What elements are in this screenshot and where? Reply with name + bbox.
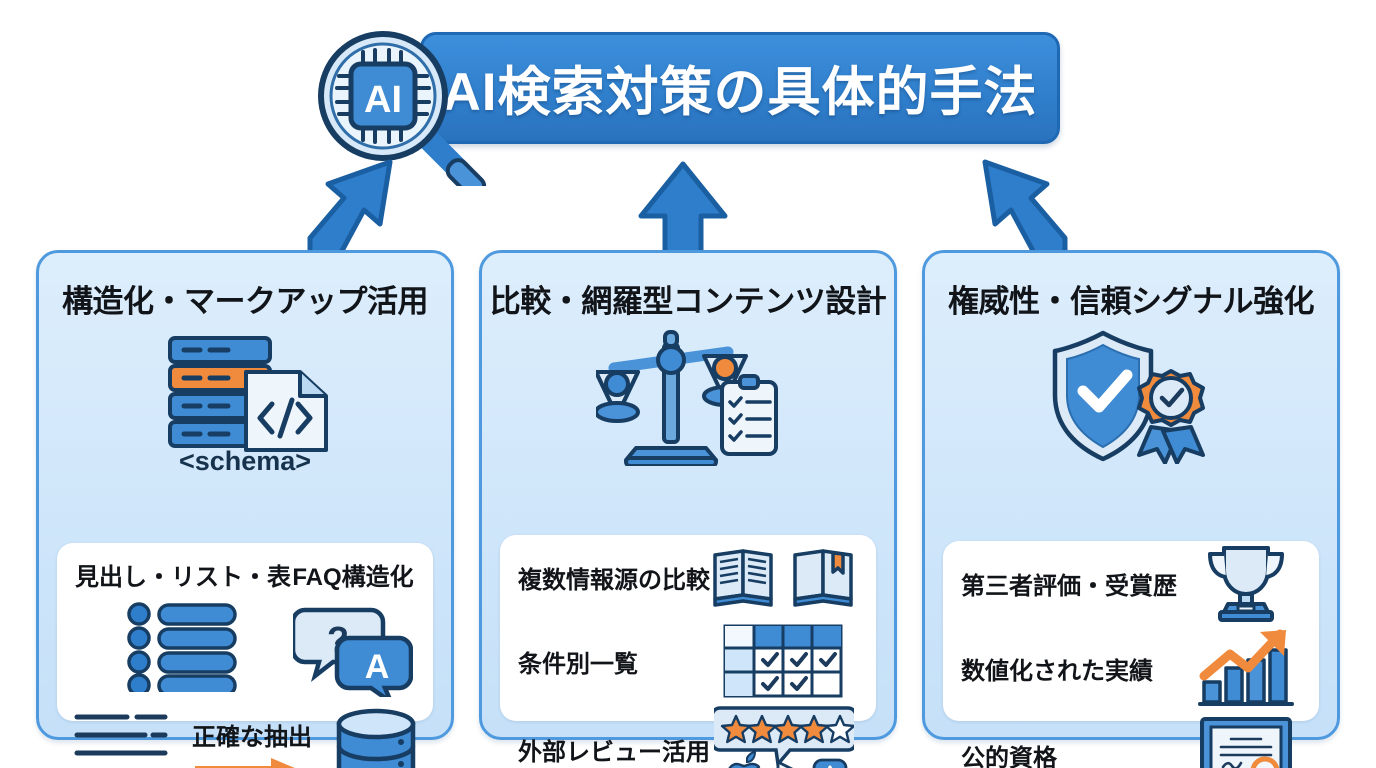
- arrow-up-icon: [637, 158, 729, 258]
- document-lines-icon: [71, 709, 171, 768]
- orange-arrow-icon: [193, 756, 311, 768]
- item-accurate-extraction: 正確な抽出: [57, 702, 433, 768]
- column-title: 比較・網羅型コンテンツ設計: [482, 276, 894, 321]
- arrow-up-left-icon: [963, 140, 1083, 265]
- comparison-table-icon: [723, 624, 843, 698]
- item-label: FAQ構造化: [291, 557, 415, 592]
- item-third-party-awards: 第三者評価・受賞歴: [943, 541, 1319, 625]
- column-title: 権威性・信頼シグナル強化: [925, 276, 1337, 321]
- trophy-icon: [1202, 544, 1290, 622]
- item-external-reviews: 外部レビュー活用: [500, 703, 876, 768]
- ai-chip-label: AI: [364, 79, 402, 121]
- item-quantified-results: 数値化された実績: [943, 625, 1319, 711]
- item-condition-table: 条件別一覧: [500, 619, 876, 703]
- item-label: 正確な抽出: [173, 717, 331, 752]
- title-banner: AI検索対策の具体的手法: [420, 32, 1060, 144]
- column-title: 構造化・マークアップ活用: [39, 276, 451, 321]
- item-faq-structure: FAQ構造化 ? A: [291, 557, 415, 702]
- item-label: 第三者評価・受賞歴: [961, 566, 1177, 601]
- bullet-list-icon: [123, 602, 243, 692]
- item-label: 複数情報源の比較: [518, 560, 710, 595]
- column-structure: 構造化・マークアップ活用: [36, 250, 454, 740]
- column-items-card: 見出し・リスト・表 FAQ構造化 ?: [57, 543, 433, 721]
- infographic-root: AI検索対策の具体的手法 AI: [0, 0, 1376, 768]
- item-label: 外部レビュー活用: [518, 732, 710, 767]
- balance-scale-clipboard-icon: [596, 326, 781, 466]
- column-items-card: 第三者評価・受賞歴: [943, 541, 1319, 721]
- column-items-card: 複数情報源の比較: [500, 535, 876, 721]
- item-label: 条件別一覧: [518, 644, 638, 679]
- page-title: AI検索対策の具体的手法: [443, 50, 1038, 126]
- certificate-seal-icon: [1199, 715, 1293, 768]
- column-hero: [925, 321, 1337, 471]
- item-public-qualification: 公的資格: [943, 711, 1319, 768]
- item-label: 公的資格: [961, 738, 1057, 768]
- item-multi-source-comparison: 複数情報源の比較: [500, 535, 876, 619]
- item-label: 見出し・リスト・表: [75, 557, 291, 592]
- column-hero: <schema>: [39, 321, 451, 471]
- database-icon: [333, 708, 419, 768]
- bar-chart-growth-arrow-icon: [1198, 628, 1294, 708]
- hero-caption: <schema>: [39, 446, 451, 477]
- column-hero: [482, 321, 894, 471]
- star-rating-app-stores-icon: [714, 706, 854, 768]
- qa-speech-bubbles-icon: ? A: [293, 602, 413, 697]
- server-stack-code-file-icon: [160, 334, 330, 459]
- arrow-up-right-icon: [292, 140, 412, 265]
- column-comparison: 比較・網羅型コンテンツ設計: [479, 250, 897, 740]
- column-authority: 権威性・信頼シグナル強化 第三者評価・受賞歴: [922, 250, 1340, 740]
- item-label: 数値化された実績: [961, 651, 1153, 686]
- two-open-books-icon: [711, 547, 857, 607]
- item-structure-lists: 見出し・リスト・表: [75, 557, 291, 702]
- svg-text:A: A: [365, 648, 390, 686]
- shield-check-award-ribbon-icon: [1041, 329, 1221, 464]
